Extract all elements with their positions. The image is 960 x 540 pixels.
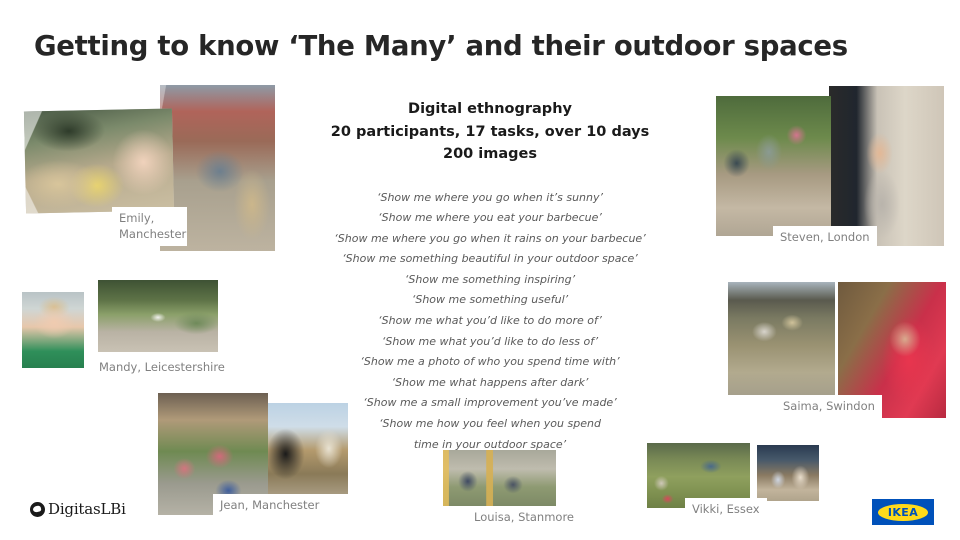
participant-card-jean: Jean, Manchester — [158, 393, 358, 520]
headline-block: Digital ethnography 20 participants, 17 … — [318, 98, 662, 166]
task-item: ‘Show me how you feel when you spend — [318, 414, 662, 435]
mandy-garden-photo — [98, 280, 218, 352]
digitaslbi-wordmark: DigitasLBi — [48, 500, 126, 518]
task-item: ‘Show me something inspiring’ — [318, 270, 662, 291]
participant-card-steven: Steven, London — [716, 86, 944, 258]
participant-card-mandy: Mandy, Leicestershire — [22, 280, 252, 380]
slide-canvas: Getting to know ‘The Many’ and their out… — [0, 0, 960, 540]
task-item: ‘Show me where you go when it rains on y… — [318, 229, 662, 250]
page-title: Getting to know ‘The Many’ and their out… — [34, 30, 914, 62]
task-item: ‘Show me something beautiful in your out… — [318, 249, 662, 270]
headline-line-1: Digital ethnography — [318, 98, 662, 121]
participant-caption-jean: Jean, Manchester — [213, 494, 326, 517]
participant-card-louisa: Louisa, Stanmore — [443, 450, 603, 530]
task-item: ‘Show me something useful’ — [318, 290, 662, 311]
louisa-shed-photo — [443, 450, 556, 506]
saima-garden-photo — [728, 282, 835, 395]
task-item: ‘Show me a small improvement you’ve made… — [318, 393, 662, 414]
digitas-circle-mark-icon — [30, 502, 45, 517]
task-item: ‘Show me what you’d like to do more of’ — [318, 311, 662, 332]
participant-caption-louisa: Louisa, Stanmore — [467, 506, 581, 529]
task-item: ‘Show me where you eat your barbecue’ — [318, 208, 662, 229]
emily-window-photo — [24, 108, 174, 213]
digitaslbi-logo: DigitasLBi — [30, 500, 126, 518]
headline-line-3: 200 images — [318, 143, 662, 166]
task-item: ‘Show me what you’d like to do less of’ — [318, 332, 662, 353]
steven-patio-photo — [716, 96, 831, 236]
headline-line-2: 20 participants, 17 tasks, over 10 days — [318, 121, 662, 144]
steven-portrait-photo — [829, 86, 944, 246]
task-list: ‘Show me where you go when it’s sunny’ ‘… — [318, 188, 662, 456]
participant-card-vikki: Vikki, Essex — [647, 443, 822, 525]
participant-caption-emily: Emily, Manchester — [112, 207, 187, 246]
ikea-wordmark: IKEA — [888, 507, 918, 518]
ikea-logo: IKEA — [872, 499, 934, 525]
ikea-oval-shape: IKEA — [878, 504, 928, 521]
participant-caption-saima: Saima, Swindon — [776, 395, 882, 418]
participant-caption-mandy: Mandy, Leicestershire — [92, 356, 232, 379]
task-item: ‘Show me where you go when it’s sunny’ — [318, 188, 662, 209]
participant-card-saima: Saima, Swindon — [728, 282, 946, 418]
task-item: ‘Show me what happens after dark’ — [318, 373, 662, 394]
vikki-people-photo — [757, 445, 819, 501]
task-item: ‘Show me a photo of who you spend time w… — [318, 352, 662, 373]
participant-card-emily: Emily, Manchester — [25, 85, 275, 260]
mandy-portrait-photo — [22, 292, 84, 368]
participant-caption-vikki: Vikki, Essex — [685, 498, 767, 521]
participant-caption-steven: Steven, London — [773, 226, 877, 249]
jean-wall-photo — [268, 403, 348, 494]
center-text-column: Digital ethnography 20 participants, 17 … — [318, 98, 662, 455]
